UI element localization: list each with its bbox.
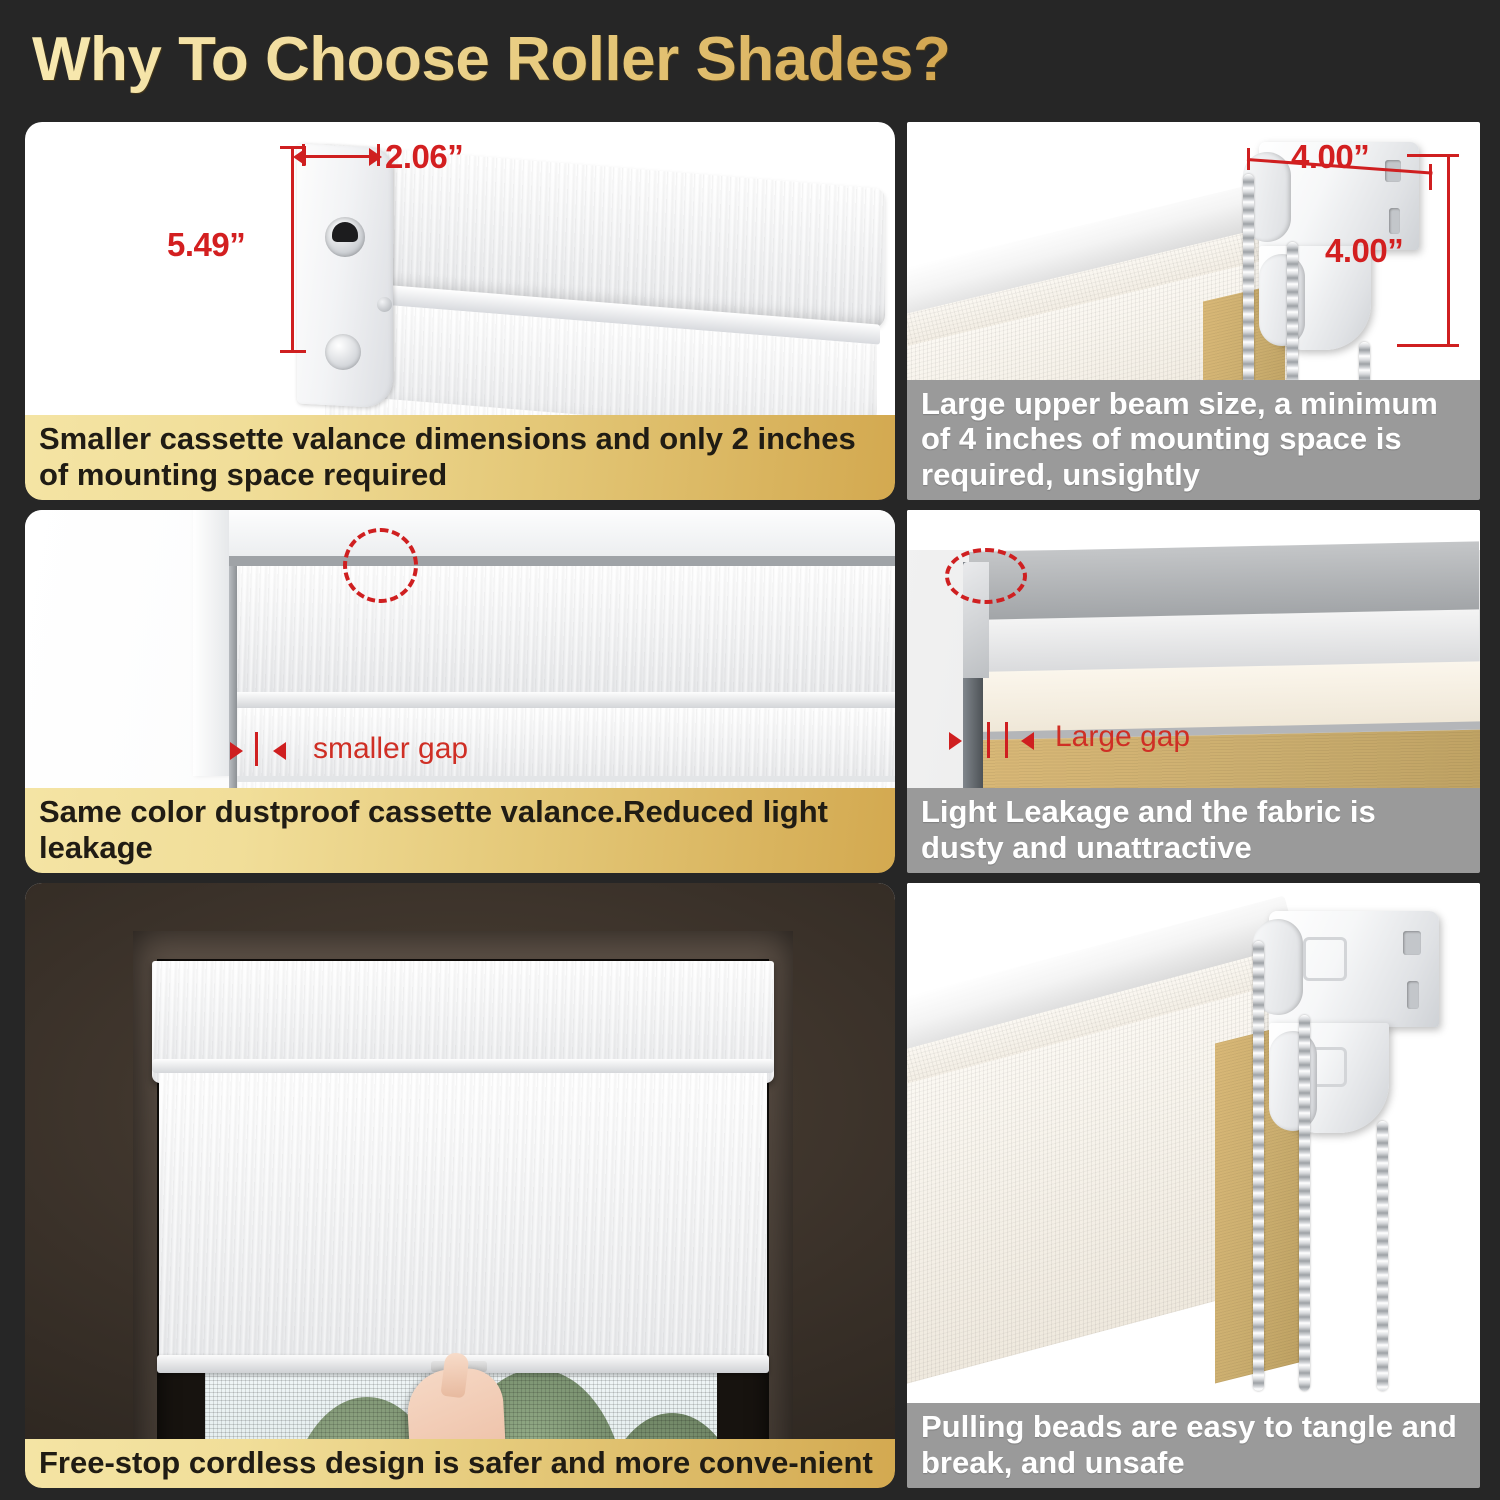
bracket-slot-1 [1403, 931, 1421, 955]
bracket-slot-2 [1407, 981, 1419, 1009]
shade-valance-lip [152, 1059, 774, 1073]
gap-label: smaller gap [313, 732, 468, 766]
dim-height-tick-top [1407, 154, 1459, 157]
dim-height-tick-bottom [1397, 344, 1459, 347]
gap-label: Large gap [1055, 720, 1190, 754]
bead-chain-3 [1377, 1121, 1388, 1391]
highlight-circle-icon [343, 528, 418, 603]
bracket-pin-icon [325, 334, 361, 370]
bracket-clutch-icon [325, 217, 365, 257]
dim-width-arrow-left [293, 148, 306, 166]
panel-6-image [907, 883, 1480, 1403]
screw-icon [377, 297, 392, 312]
panel-3-image: smaller gap [25, 510, 895, 788]
gap-arrow-right [273, 742, 286, 760]
dim-width-arrow-right [369, 148, 382, 166]
panel-pulling-beads: Pulling beads are easy to tangle and bre… [907, 883, 1480, 1488]
bead-chain-2 [1299, 1015, 1310, 1391]
gap-arrow-right [1021, 732, 1034, 750]
gap-arrow-left [230, 742, 243, 760]
panel-light-leakage: Large gap Light Leakage and the fabric i… [907, 510, 1480, 873]
panel-2-caption: Large upper beam size, a minimum of 4 in… [907, 380, 1480, 500]
panel-1-caption: Smaller cassette valance dimensions and … [25, 415, 895, 500]
panel-6-caption: Pulling beads are easy to tangle and bre… [907, 1403, 1480, 1488]
page-title: Why To Choose Roller Shades? [32, 24, 950, 95]
bead-chain-2 [1287, 242, 1298, 380]
bead-chain-illustration [907, 883, 1480, 1403]
dim-width-label: 2.06” [385, 138, 463, 176]
panel-1-image: 2.06” 5.49” [25, 122, 895, 415]
dim-height-line [291, 146, 294, 352]
bracket-emboss-upper-icon [1303, 937, 1347, 981]
bracket-slot-2 [1389, 208, 1400, 234]
panel-5-caption: Free-stop cordless design is safer and m… [25, 1439, 895, 1488]
dim-width-tick-right [1429, 164, 1432, 190]
panel-4-image: Large gap [907, 510, 1480, 788]
dim-width-label: 4.00” [1291, 138, 1369, 176]
header: Why To Choose Roller Shades? [32, 18, 1132, 100]
dim-height-line [1447, 154, 1450, 346]
clutch-disc-lower [1259, 254, 1305, 346]
valance-bottom-lip [233, 692, 895, 708]
cassette-valance-face [233, 566, 895, 692]
gap-tick-2 [1005, 722, 1008, 758]
panel-4-caption: Light Leakage and the fabric is dusty an… [907, 788, 1480, 873]
panel-5-image [25, 883, 895, 1439]
gap-tick [255, 732, 258, 766]
window-casing-top [229, 510, 895, 556]
panel-large-upper-beam: 4.00” 4.00” Large upper beam size, a min… [907, 122, 1480, 500]
comparison-grid: 2.06” 5.49” Smaller cassette valance dim… [0, 110, 1500, 1500]
shade-fabric [159, 1073, 767, 1363]
panel-cordless-design: Free-stop cordless design is safer and m… [25, 883, 895, 1488]
panel-2-image: 4.00” 4.00” [907, 122, 1480, 380]
bead-chain-1 [1243, 174, 1254, 380]
panel-dustproof-cassette: smaller gap Same color dustproof cassett… [25, 510, 895, 873]
window-casing-vertical [193, 510, 229, 776]
highlight-circle-icon [945, 548, 1027, 604]
bead-chain-3 [1359, 342, 1370, 380]
shade-fabric-lower [237, 782, 895, 788]
bead-chain-1 [1253, 941, 1264, 1391]
gap-arrow-left [949, 732, 962, 750]
panel-smaller-cassette: 2.06” 5.49” Smaller cassette valance dim… [25, 122, 895, 500]
panel-3-caption: Same color dustproof cassette valance.Re… [25, 788, 895, 873]
dim-height-label: 4.00” [1325, 232, 1403, 270]
cassette-top-edge [229, 556, 895, 566]
dim-height-label: 5.49” [167, 226, 245, 264]
gap-tick-1 [987, 722, 990, 758]
